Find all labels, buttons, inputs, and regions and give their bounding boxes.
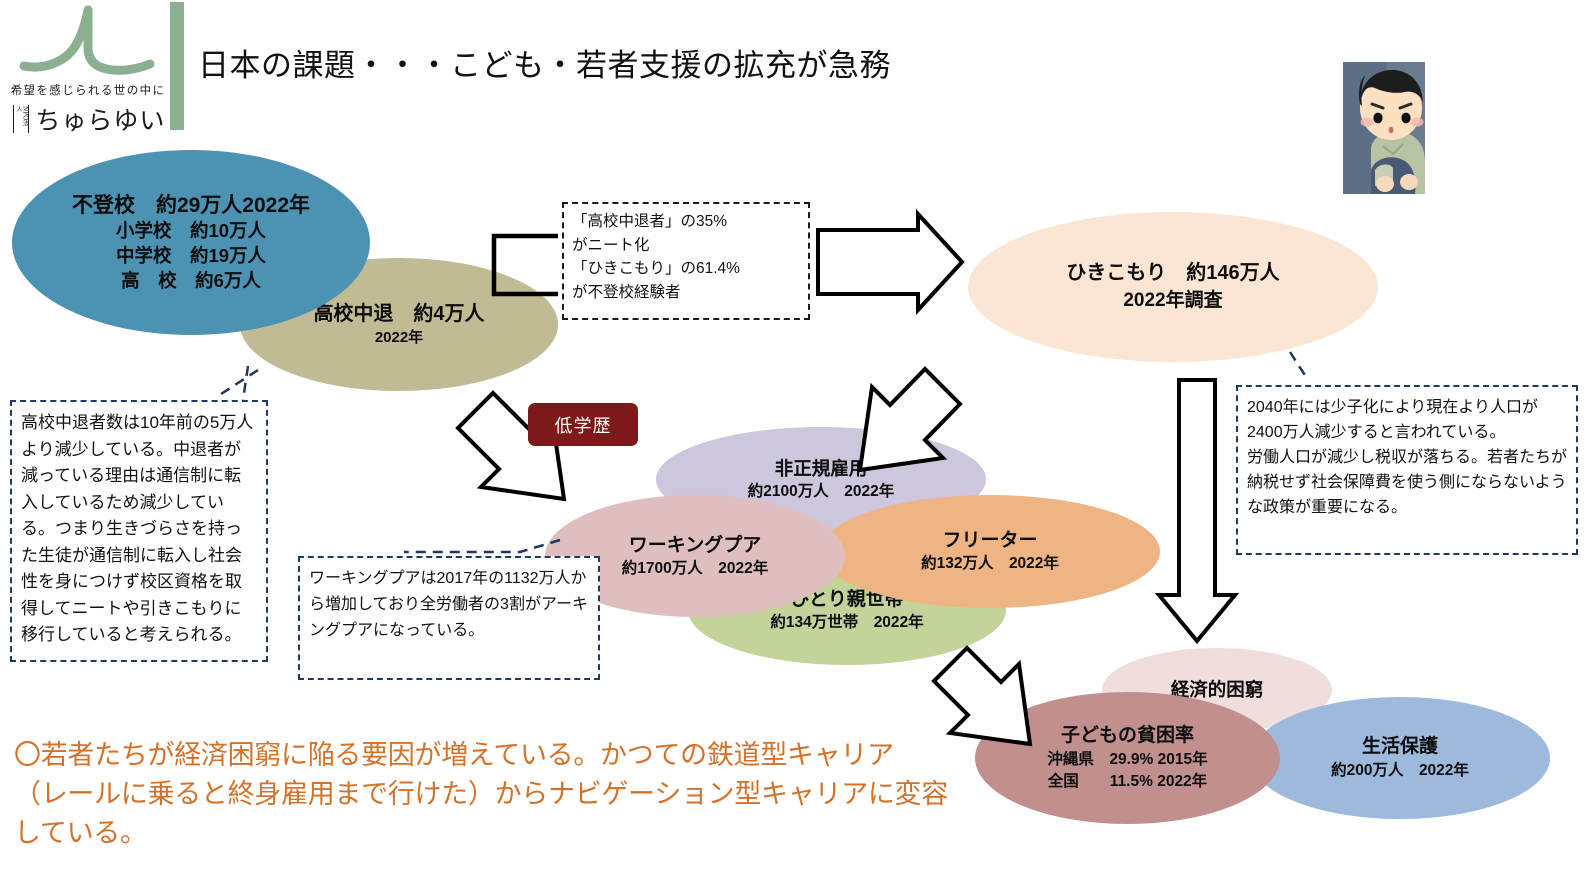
arrow-note-to-hikikomori (818, 214, 962, 310)
node-koukou-chutai-year: 2022年 (375, 327, 423, 348)
node-seikatsu-hogo[interactable]: 生活保護 約200万人 2022年 (1250, 697, 1550, 819)
note-working-poor-explanation: ワーキングプアは2017年の1132万人から増加しており全労働者の3割がアーキン… (298, 556, 600, 680)
node-futoukou-line1: 小学校 約10万人 (116, 218, 266, 243)
note-population-2040: 2040年には少子化により現在より人口が2400万人減少すると言われている。 労… (1236, 385, 1578, 555)
leader-hikikomori-to-note (1290, 352, 1308, 380)
page-title: 日本の課題・・・こども・若者支援の拡充が急務 (198, 40, 891, 85)
arrow-hikikomori-to-keizai (1159, 380, 1235, 641)
leader-workingpoor-to-note (404, 540, 560, 552)
node-futoukou-line2: 中学校 約19万人 (116, 243, 266, 268)
node-koukou-chutai-title: 高校中退 約4万人 (313, 301, 484, 327)
node-working-poor-value: 約1700万人 2022年 (622, 558, 768, 580)
logo-tagline: 希望を感じられる世の中に (8, 82, 168, 98)
node-seikatsu-hogo-value: 約200万人 2022年 (1331, 760, 1469, 782)
node-hiseiki-koyou-value: 約2100万人 2022年 (748, 481, 894, 503)
node-kodomo-hinkon-title: 子どもの貧困率 (1061, 723, 1194, 749)
node-hikikomori-year: 2022年調査 (1123, 287, 1222, 315)
node-hitorioya-setai-value: 約134万世帯 2022年 (770, 612, 923, 634)
node-freeter[interactable]: フリーター 約132万人 2022年 (820, 495, 1160, 608)
node-futoukou[interactable]: 不登校 約29万人2022年 小学校 約10万人 中学校 約19万人 高 校 約… (12, 150, 370, 335)
organization-logo: 希望を感じられる世の中に NPO法人 ちゅらゆい (0, 0, 180, 140)
node-futoukou-line3: 高 校 約6万人 (121, 268, 261, 293)
leader-chutai-to-note-2 (243, 366, 248, 400)
node-hiseiki-koyou-title: 非正規雇用 (775, 457, 868, 481)
slide-canvas: 希望を感じられる世の中に NPO法人 ちゅらゆい 日本の課題・・・こども・若者支… (0, 0, 1588, 894)
node-working-poor-title: ワーキングプア (629, 533, 761, 558)
node-hikikomori[interactable]: ひきこもり 約146万人 2022年調査 (968, 212, 1378, 362)
label-teigakureki[interactable]: 低学歴 (528, 403, 638, 446)
node-freeter-value: 約132万人 2022年 (921, 553, 1059, 575)
note-neet-statistics: 「高校中退者」の35% がニート化 「ひきこもり」の61.4% が不登校経験者 (562, 202, 810, 320)
logo-npo-mark: NPO法人 (13, 105, 30, 133)
node-futoukou-title: 不登校 約29万人2022年 (71, 193, 311, 218)
hikikomori-boy-illustration (1331, 58, 1437, 198)
node-kodomo-hinkon-okinawa: 沖縄県 29.9% 2015年 (1047, 749, 1207, 771)
leader-chutai-to-note (218, 370, 258, 396)
node-kodomo-hinkon-zenkoku: 全国 11.5% 2022年 (1048, 771, 1207, 793)
node-seikatsu-hogo-title: 生活保護 (1362, 734, 1438, 760)
logo-name: ちゅらゆい (35, 101, 165, 137)
header-accent-bar (170, 2, 184, 130)
node-hikikomori-title: ひきこもり 約146万人 (1066, 259, 1279, 287)
bottom-summary-text: 〇若者たちが経済困窮に陥る要因が増えている。かつての鉄道型キャリア （レールに乗… (14, 736, 994, 853)
node-freeter-title: フリーター (942, 528, 1037, 553)
node-kodomo-hinkon[interactable]: 子どもの貧困率 沖縄県 29.9% 2015年 全国 11.5% 2022年 (975, 692, 1280, 824)
logo-name-row: NPO法人 ちゅらゆい (10, 101, 168, 137)
note-chutai-explanation: 高校中退者数は10年前の5万人より減少している。中退者が減っている理由は通信制に… (10, 400, 268, 662)
churayui-logo-icon (18, 4, 158, 84)
